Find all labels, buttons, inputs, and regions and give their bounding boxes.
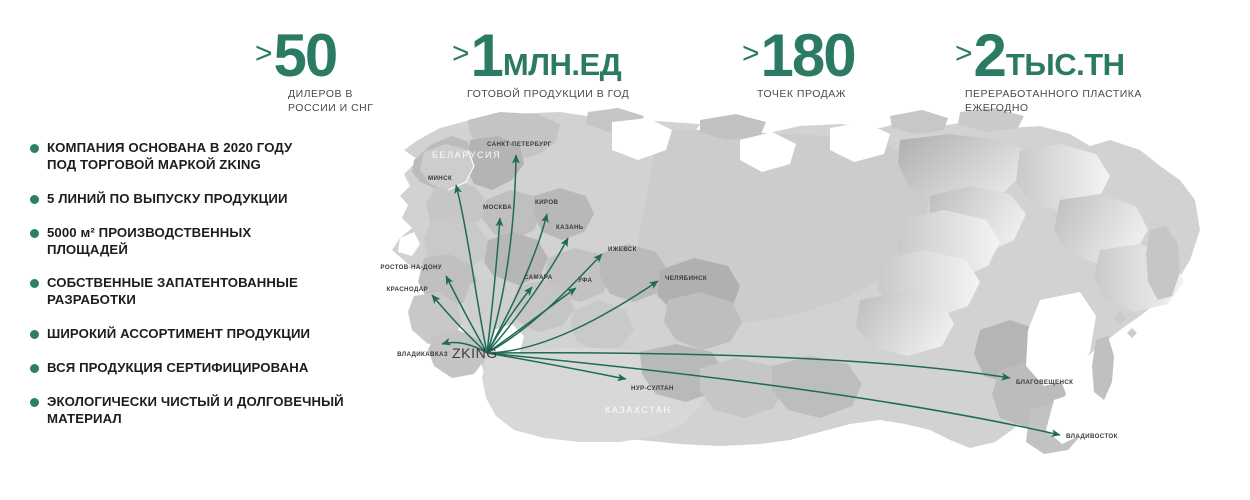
list-item: ЭКОЛОГИЧЕСКИ ЧИСТЫЙ И ДОЛГОВЕЧНЫЙ МАТЕРИ… xyxy=(30,394,390,428)
list-item: КОМПАНИЯ ОСНОВАНА В 2020 ГОДУ ПОД ТОРГОВ… xyxy=(30,140,390,174)
city-label-samara: САМАРА xyxy=(524,274,553,281)
company-facts-list: КОМПАНИЯ ОСНОВАНА В 2020 ГОДУ ПОД ТОРГОВ… xyxy=(30,140,390,445)
city-label-kirov: КИРОВ xyxy=(535,199,558,206)
stat-output-number: 1 xyxy=(471,28,502,83)
list-item: 5 ЛИНИЙ ПО ВЫПУСКУ ПРОДУКЦИИ xyxy=(30,191,390,208)
city-label-krasnodar: КРАСНОДАР xyxy=(387,286,429,293)
city-label-ufa: УФА xyxy=(578,277,592,284)
stat-dealers-value-group: > 50 xyxy=(255,28,373,83)
stat-recycled-plastic-caption: ПЕРЕРАБОТАННОГО ПЛАСТИКА ЕЖЕГОДНО xyxy=(965,88,1142,115)
city-label-blagoveshchensk: БЛАГОВЕЩЕНСК xyxy=(1016,379,1073,386)
bullet-dot-icon xyxy=(30,229,39,238)
bullet-dot-icon xyxy=(30,398,39,407)
bullet-dot-icon xyxy=(30,279,39,288)
stats-row: > 50 ДИЛЕРОВ В РОССИИ И СНГ > 1 МЛН.ЕД Г… xyxy=(0,14,1250,120)
bullet-dot-icon xyxy=(30,330,39,339)
bullet-dot-icon xyxy=(30,195,39,204)
list-item-label: КОМПАНИЯ ОСНОВАНА В 2020 ГОДУ ПОД ТОРГОВ… xyxy=(47,140,292,174)
stat-recycled-plastic: > 2 ТЫС.ТН ПЕРЕРАБОТАННОГО ПЛАСТИКА ЕЖЕГ… xyxy=(955,28,1142,115)
stat-output: > 1 МЛН.ЕД ГОТОВОЙ ПРОДУКЦИИ В ГОД xyxy=(452,28,629,102)
greater-than-icon: > xyxy=(742,40,759,68)
city-label-nur-sultan: НУР-СУЛТАН xyxy=(631,385,674,392)
stat-sales-points-value-group: > 180 xyxy=(742,28,856,83)
greater-than-icon: > xyxy=(452,40,469,68)
stat-dealers-caption: ДИЛЕРОВ В РОССИИ И СНГ xyxy=(288,88,373,115)
hub-label-zking: ZKING xyxy=(452,345,498,361)
list-item: 5000 м² ПРОИЗВОДСТВЕННЫХ ПЛОЩАДЕЙ xyxy=(30,225,390,259)
bullet-dot-icon xyxy=(30,144,39,153)
city-label-kazan: КАЗАНЬ xyxy=(556,224,584,231)
stat-output-unit: МЛН.ЕД xyxy=(503,51,621,80)
greater-than-icon: > xyxy=(255,40,272,68)
list-item: ВСЯ ПРОДУКЦИЯ СЕРТИФИЦИРОВАНА xyxy=(30,360,390,377)
list-item: ШИРОКИЙ АССОРТИМЕНТ ПРОДУКЦИИ xyxy=(30,326,390,343)
stat-sales-points-caption: ТОЧЕК ПРОДАЖ xyxy=(757,88,856,101)
city-label-chelyabinsk: ЧЕЛЯБИНСК xyxy=(665,275,707,282)
stat-recycled-plastic-value-group: > 2 ТЫС.ТН xyxy=(955,28,1142,83)
stat-output-caption: ГОТОВОЙ ПРОДУКЦИИ В ГОД xyxy=(467,88,629,101)
city-label-moscow: МОСКВА xyxy=(483,204,512,211)
city-label-izhevsk: ИЖЕВСК xyxy=(608,246,637,253)
city-label-vladivostok: ВЛАДИВОСТОК xyxy=(1066,433,1118,440)
list-item-label: 5 ЛИНИЙ ПО ВЫПУСКУ ПРОДУКЦИИ xyxy=(47,191,288,208)
city-label-minsk: МИНСК xyxy=(428,175,452,182)
bullet-dot-icon xyxy=(30,364,39,373)
greater-than-icon: > xyxy=(955,40,972,68)
map-landmass xyxy=(392,108,1200,454)
city-label-saint-petersburg: САНКТ-ПЕТЕРБУРГ xyxy=(487,141,552,148)
stat-sales-points: > 180 ТОЧЕК ПРОДАЖ xyxy=(742,28,856,102)
country-label-belarus: БЕЛАРУСИЯ xyxy=(432,150,501,160)
country-label-kazakhstan: КАЗАХСТАН xyxy=(605,405,672,415)
stat-dealers-number: 50 xyxy=(274,28,337,83)
stat-dealers: > 50 ДИЛЕРОВ В РОССИИ И СНГ xyxy=(255,28,373,115)
city-label-vladikavkaz: ВЛАДИКАВКАЗ xyxy=(397,351,448,358)
stat-recycled-plastic-number: 2 xyxy=(974,28,1005,83)
stat-recycled-plastic-unit: ТЫС.ТН xyxy=(1006,51,1125,80)
list-item-label: 5000 м² ПРОИЗВОДСТВЕННЫХ ПЛОЩАДЕЙ xyxy=(47,225,251,259)
stat-output-value-group: > 1 МЛН.ЕД xyxy=(452,28,629,83)
list-item: СОБСТВЕННЫЕ ЗАПАТЕНТОВАННЫЕ РАЗРАБОТКИ xyxy=(30,275,390,309)
list-item-label: ВСЯ ПРОДУКЦИЯ СЕРТИФИЦИРОВАНА xyxy=(47,360,308,377)
stat-sales-points-number: 180 xyxy=(761,28,855,83)
list-item-label: ЭКОЛОГИЧЕСКИ ЧИСТЫЙ И ДОЛГОВЕЧНЫЙ МАТЕРИ… xyxy=(47,394,344,428)
list-item-label: ШИРОКИЙ АССОРТИМЕНТ ПРОДУКЦИИ xyxy=(47,326,310,343)
list-item-label: СОБСТВЕННЫЕ ЗАПАТЕНТОВАННЫЕ РАЗРАБОТКИ xyxy=(47,275,298,309)
